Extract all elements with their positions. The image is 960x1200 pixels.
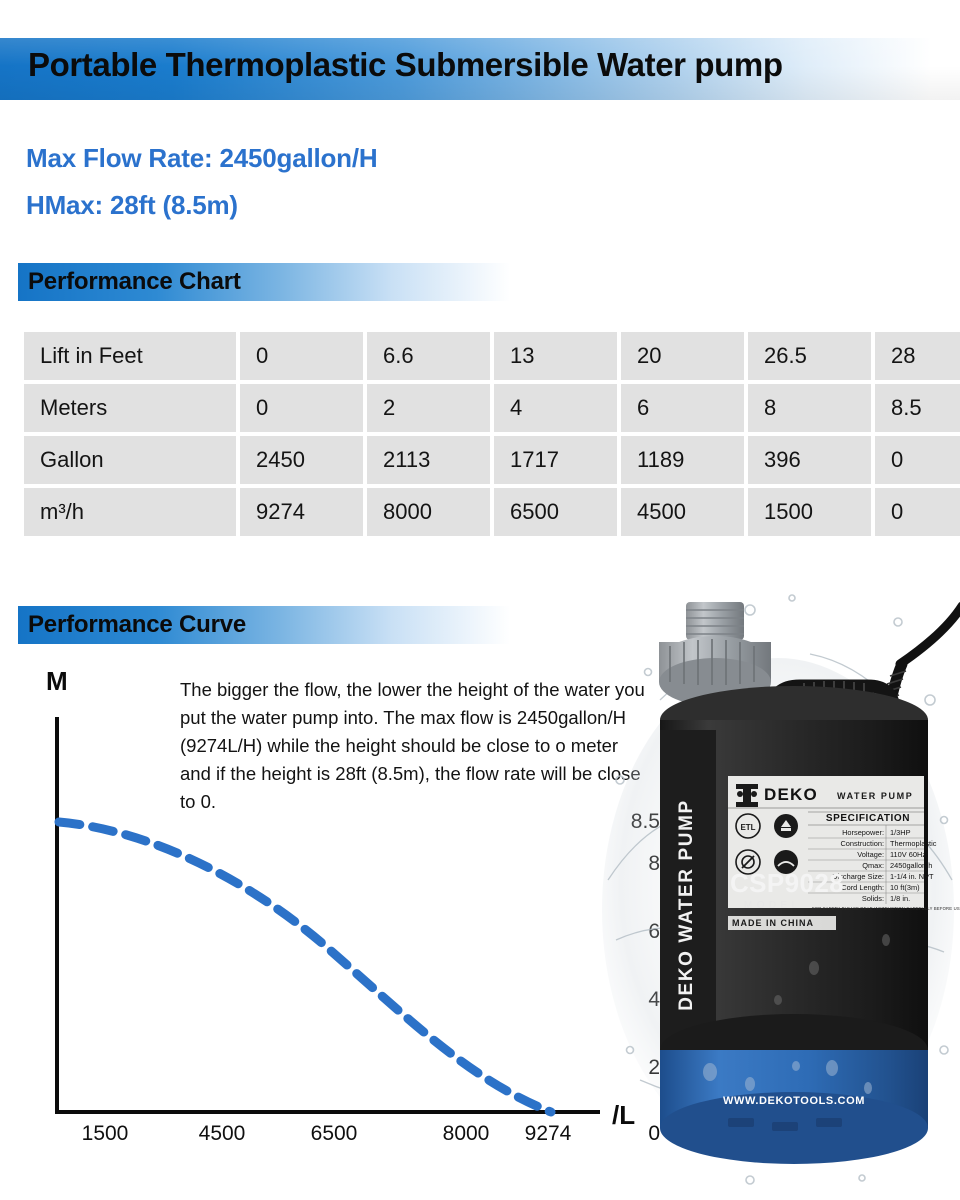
section-header-performance-curve-label: Performance Curve [28, 611, 246, 639]
table-cell: 6500 [494, 488, 617, 536]
spec-row-value: 1/3HP [890, 828, 911, 837]
table-cell: 28 [875, 332, 960, 380]
spec-row-name: Construction: [840, 839, 884, 848]
table-row-label: Lift in Feet [24, 332, 236, 380]
table-cell: 0 [240, 332, 363, 380]
table-row-label: m³/h [24, 488, 236, 536]
product-brand: DEKO [764, 785, 818, 804]
product-website: WWW.DEKOTOOLS.COM [723, 1095, 865, 1107]
spec-row-name: Horsepower: [842, 828, 884, 837]
x-tick-label: 6500 [311, 1122, 358, 1146]
spec-table-title: SPECIFICATION [826, 813, 910, 824]
table-cell: 13 [494, 332, 617, 380]
power-cord [900, 606, 960, 664]
table-row-label: Meters [24, 384, 236, 432]
table-cell: 2450 [240, 436, 363, 484]
etl-icon-label: ETL [740, 823, 755, 832]
table-cell: 4500 [621, 488, 744, 536]
table-cell: 9274 [240, 488, 363, 536]
x-tick-label: 4500 [199, 1122, 246, 1146]
table-cell: 2113 [367, 436, 490, 484]
table-cell: 6 [621, 384, 744, 432]
table-cell: 396 [748, 436, 871, 484]
table-cell: 1500 [748, 488, 871, 536]
table-row: Meters 0 2 4 6 8 8.5 [24, 384, 960, 432]
product-model-word: MODEL [744, 900, 802, 911]
spec-row-value: 1/8 in. [890, 894, 910, 903]
spec-row-value: 2450gallon/h [890, 861, 932, 870]
product-illustration: DEKO WATER PUMP DEKO WATER PUMP ETL [600, 580, 960, 1200]
spec-row-value: 1-1/4 in. NPT [890, 872, 934, 881]
performance-table-body: Lift in Feet 0 6.6 13 20 26.5 28 Meters … [24, 332, 960, 536]
spec-row-name: Solids: [862, 894, 884, 903]
performance-curve-chart: M /L 8.5 8 6 4 2 0 1500 4500 6500 8000 9… [0, 650, 660, 1170]
page-title: Portable Thermoplastic Submersible Water… [28, 46, 783, 84]
spec-row-value: Thermoplastic [890, 839, 937, 848]
x-tick-label: 9274 [525, 1122, 572, 1146]
spec-safety-note: FOR SAFETY PLEASE READ INSTRUCTION CAREF… [812, 906, 960, 911]
spec-row-value: 10 ft(3m) [890, 883, 920, 892]
spec-row-value: 110V 60Hz [890, 850, 926, 859]
spec-row-name: Voltage: [857, 850, 884, 859]
table-cell: 8.5 [875, 384, 960, 432]
performance-table: Lift in Feet 0 6.6 13 20 26.5 28 Meters … [20, 328, 960, 540]
table-cell: 20 [621, 332, 744, 380]
hmax-text: HMax: 28ft (8.5m) [26, 190, 238, 221]
table-cell: 4 [494, 384, 617, 432]
table-cell: 1189 [621, 436, 744, 484]
product-origin-text: MADE IN CHINA [732, 918, 814, 928]
table-cell: 0 [240, 384, 363, 432]
table-row: Gallon 2450 2113 1717 1189 396 0 [24, 436, 960, 484]
table-cell: 6.6 [367, 332, 490, 380]
product-model-number: CSP9028 [730, 868, 844, 898]
x-tick-label: 1500 [82, 1122, 129, 1146]
table-row: m³/h 9274 8000 6500 4500 1500 0 [24, 488, 960, 536]
section-header-performance-chart-label: Performance Chart [28, 268, 241, 296]
water-drop-icon-base [781, 828, 791, 831]
table-cell: 8 [748, 384, 871, 432]
product-brand-sub: WATER PUMP [837, 791, 913, 801]
pump-side-text: DEKO WATER PUMP [676, 799, 697, 1011]
spec-row-name: Qmax: [862, 861, 884, 870]
table-cell: 2 [367, 384, 490, 432]
section-header-performance-curve: Performance Curve [18, 606, 510, 644]
section-header-performance-chart: Performance Chart [18, 263, 510, 301]
table-cell: 0 [875, 488, 960, 536]
performance-curve-line [59, 822, 551, 1112]
deko-logo-icon [736, 784, 758, 807]
max-flow-rate-text: Max Flow Rate: 2450gallon/H [26, 143, 377, 174]
table-cell: 26.5 [748, 332, 871, 380]
product-image: DEKO WATER PUMP DEKO WATER PUMP ETL [600, 580, 960, 1200]
table-cell: 0 [875, 436, 960, 484]
table-cell: 1717 [494, 436, 617, 484]
curve-plot-svg [0, 650, 660, 1170]
table-cell: 8000 [367, 488, 490, 536]
table-row-label: Gallon [24, 436, 236, 484]
x-tick-label: 8000 [443, 1122, 490, 1146]
table-row: Lift in Feet 0 6.6 13 20 26.5 28 [24, 332, 960, 380]
spec-row-name: Cord Length: [841, 883, 884, 892]
